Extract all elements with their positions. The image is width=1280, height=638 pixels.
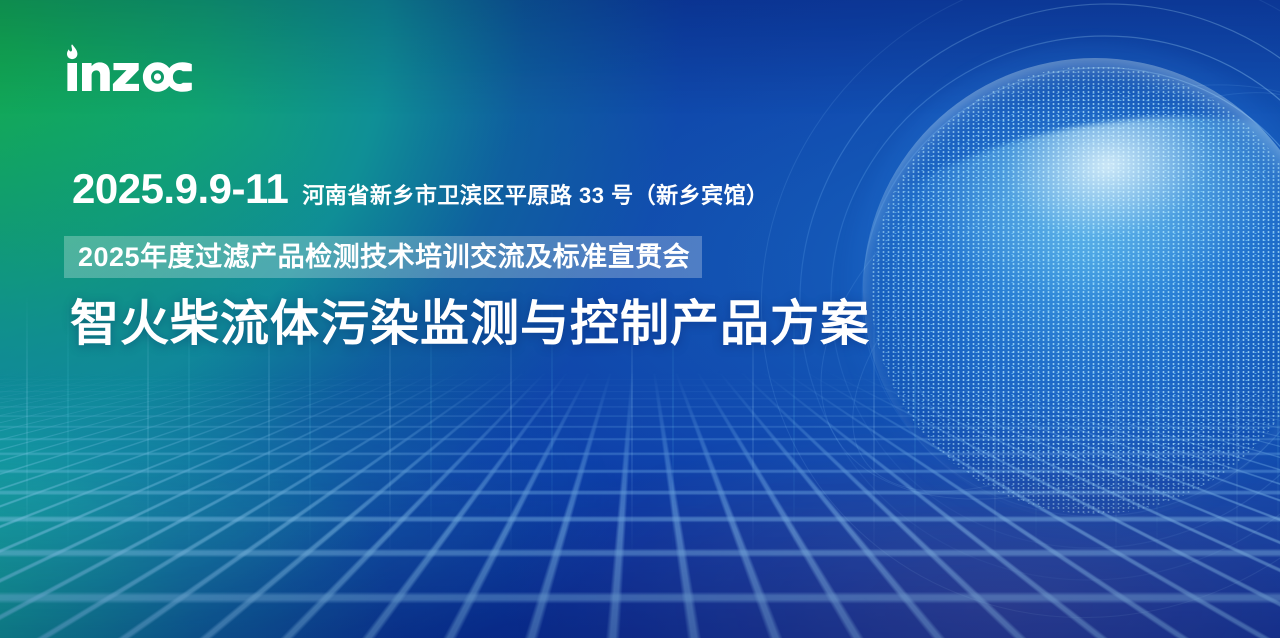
promo-banner: 2025.9.9-11 河南省新乡市卫滨区平原路 33 号（新乡宾馆） 2025… [0,0,1280,638]
brand-logo[interactable] [62,44,192,102]
banner-content: 2025.9.9-11 河南省新乡市卫滨区平原路 33 号（新乡宾馆） 2025… [0,0,1280,638]
event-venue: 河南省新乡市卫滨区平原路 33 号（新乡宾馆） [302,185,768,207]
event-date: 2025.9.9-11 [72,168,288,210]
event-subtitle-band: 2025年度过滤产品检测技术培训交流及标准宣贯会 [64,236,702,278]
date-venue-row: 2025.9.9-11 河南省新乡市卫滨区平原路 33 号（新乡宾馆） [72,168,769,210]
page-title: 智火柴流体污染监测与控制产品方案 [70,296,870,354]
event-subtitle: 2025年度过滤产品检测技术培训交流及标准宣贯会 [78,244,690,271]
flame-icon [67,45,77,60]
